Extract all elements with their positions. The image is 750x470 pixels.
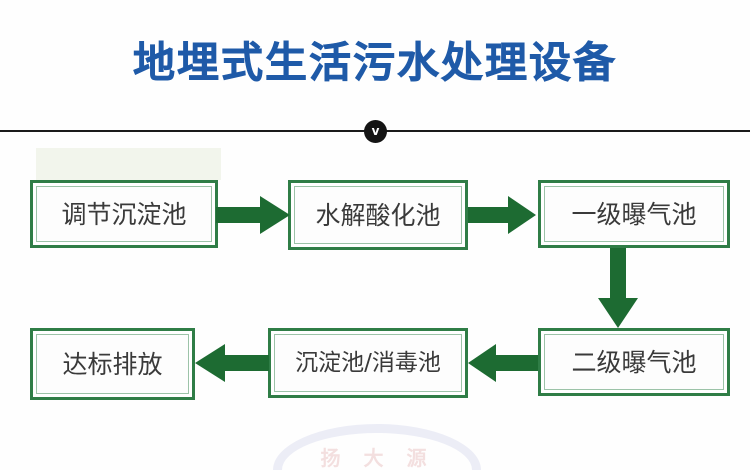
flow-arrow-down-1 xyxy=(598,248,638,328)
flow-node-label: 调节沉淀池 xyxy=(61,202,186,227)
flow-node-tiaojie-chendianchi[interactable]: 调节沉淀池 xyxy=(30,180,218,248)
flow-node-inner: 调节沉淀池 xyxy=(36,186,212,242)
watermark-text: 扬 大 源 xyxy=(245,442,510,470)
flow-arrow-left-1 xyxy=(468,344,538,382)
flow-node-inner: 一级曝气池 xyxy=(544,186,724,242)
chevron-down-glyph: v xyxy=(372,125,380,137)
flow-node-inner: 达标排放 xyxy=(36,334,189,394)
flow-node-yiji-baoqichi[interactable]: 一级曝气池 xyxy=(538,180,730,248)
flow-arrow-right-2 xyxy=(468,196,536,234)
flow-arrow-right-1 xyxy=(216,196,290,234)
flow-node-inner: 水解酸化池 xyxy=(294,186,462,244)
flow-node-erji-baoqichi[interactable]: 二级曝气池 xyxy=(538,328,730,396)
flowchart-page: 地埋式生活污水处理设备 v 扬 大 源 调节沉淀池 水解酸化池 一级曝气池 二级… xyxy=(0,0,750,470)
flow-node-inner: 沉淀池/消毒池 xyxy=(274,334,462,392)
flow-node-label: 一级曝气池 xyxy=(571,202,696,227)
flow-node-chendianchi-xiaoduchi[interactable]: 沉淀池/消毒池 xyxy=(268,328,468,398)
flow-node-inner: 二级曝气池 xyxy=(544,334,724,390)
flow-node-shuijie-suanhuachi[interactable]: 水解酸化池 xyxy=(288,180,468,250)
page-title-zone: 地埋式生活污水处理设备 xyxy=(0,28,750,98)
chevron-down-icon[interactable]: v xyxy=(364,120,387,143)
flow-node-label: 沉淀池/消毒池 xyxy=(295,352,441,375)
page-title: 地埋式生活污水处理设备 xyxy=(133,42,617,84)
watermark-arc xyxy=(273,424,481,470)
background-tint-block xyxy=(36,148,221,180)
flow-node-label: 水解酸化池 xyxy=(315,203,440,228)
flow-node-label: 二级曝气池 xyxy=(571,350,696,375)
flow-arrow-left-2 xyxy=(195,344,269,382)
flow-node-label: 达标排放 xyxy=(62,352,162,377)
flow-node-dabiao-paifang[interactable]: 达标排放 xyxy=(30,328,195,400)
watermark: 扬 大 源 xyxy=(245,420,510,470)
